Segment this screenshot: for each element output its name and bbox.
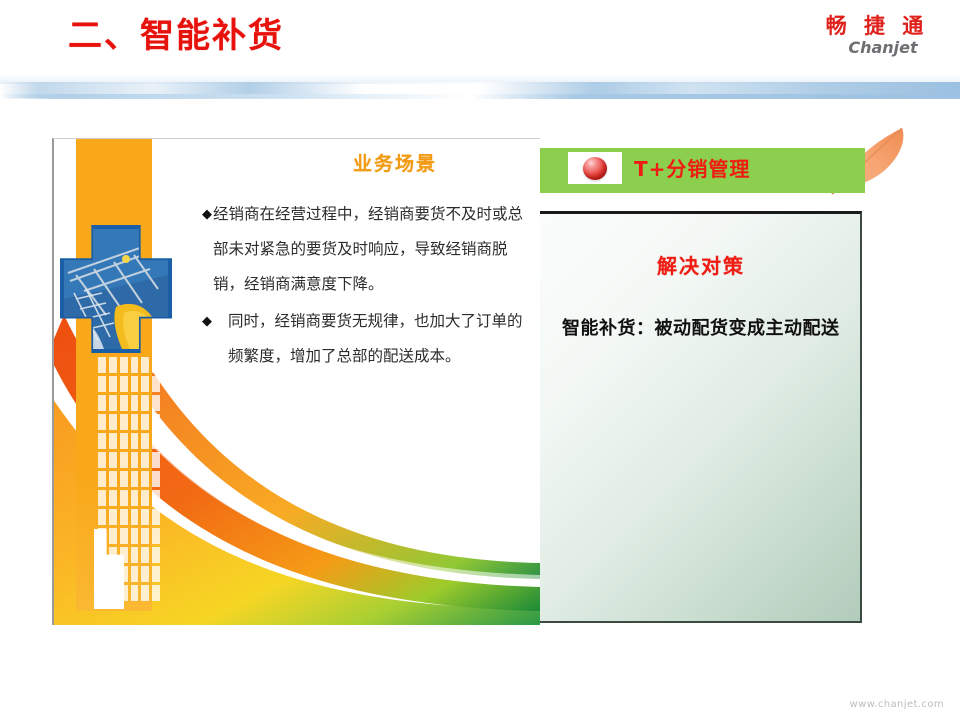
list-item: ◆ 同时，经销商要货无规律，也加大了订单的频繁度，增加了总部的配送成本。 [202,304,532,374]
bullet-diamond-icon: ◆ [202,304,222,374]
bullet-diamond-icon: ◆ [202,197,213,302]
brand-logo: 畅 捷 通 Chanjet [812,14,942,57]
brand-logo-cn: 畅 捷 通 [812,14,942,38]
list-item-text: 经销商在经营过程中，经销商要货不及时或总部未对紧急的要货及时响应，导致经销商脱销… [213,197,532,302]
list-item-text: 同时，经销商要货无规律，也加大了订单的频繁度，增加了总部的配送成本。 [222,304,532,374]
slide-header: 二、智能补货 畅 捷 通 Chanjet [0,0,960,110]
photo-image [64,229,168,349]
product-banner-label: T+分销管理 [634,153,750,185]
header-band-line [0,94,960,99]
footer-url: www.chanjet.com [850,699,945,710]
solution-body-text: 智能补货：被动配货变成主动配送 [562,314,852,343]
section-title-solution: 解决对策 [540,250,862,279]
list-item: ◆ 经销商在经营过程中，经销商要货不及时或总部未对紧急的要货及时响应，导致经销商… [202,197,532,302]
scenario-bullet-list: ◆ 经销商在经营过程中，经销商要货不及时或总部未对紧急的要货及时响应，导致经销商… [202,197,532,376]
page-title: 二、智能补货 [68,13,284,59]
section-title-business-scenario: 业务场景 [250,149,540,176]
brand-logo-en: Chanjet [824,39,942,57]
product-banner: T+分销管理 [540,148,865,193]
solution-panel: 解决对策 智能补货：被动配货变成主动配送 [540,211,862,623]
red-sphere-icon [583,157,607,180]
business-scenario-panel: 业务场景 ◆ 经销商在经营过程中，经销商要货不及时或总部未对紧急的要货及时响应，… [52,138,540,625]
banner-icon-plate [568,152,622,184]
scenario-photo [60,225,172,353]
